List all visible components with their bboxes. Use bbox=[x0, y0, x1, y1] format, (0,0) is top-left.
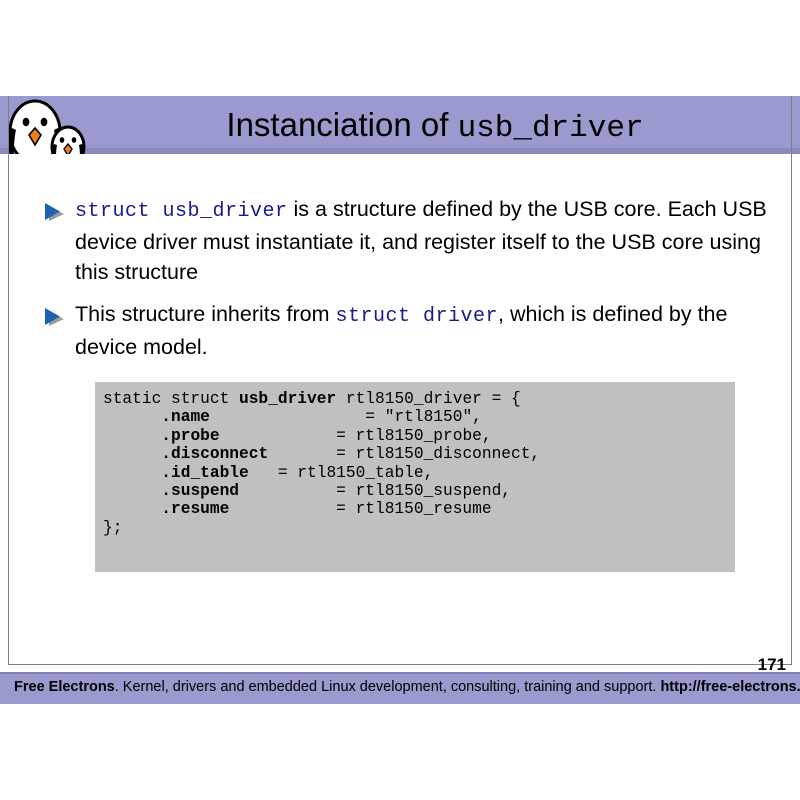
footer-brand: Free Electrons bbox=[14, 679, 115, 695]
triangle-bullet-icon bbox=[41, 306, 67, 328]
triangle-bullet-icon bbox=[41, 201, 67, 223]
bullet-1-code: struct usb_driver bbox=[75, 200, 288, 223]
code-listing: static struct usb_driver rtl8150_driver … bbox=[95, 390, 735, 537]
code-block: static struct usb_driver rtl8150_driver … bbox=[95, 382, 735, 572]
bullet-1-text: struct usb_driver is a structure defined… bbox=[9, 194, 775, 287]
page-title-prefix: Instanciation of bbox=[226, 106, 457, 143]
bullet-2-lead: This structure inherits from bbox=[75, 302, 335, 326]
slide-content: struct usb_driver is a structure defined… bbox=[9, 154, 791, 664]
footer-url[interactable]: http://free-electrons.com bbox=[660, 679, 800, 695]
page-title-code: usb_driver bbox=[458, 111, 644, 146]
page-title: Instanciation of usb_driver bbox=[90, 98, 780, 154]
footer-tagline: . Kernel, drivers and embedded Linux dev… bbox=[115, 679, 661, 695]
list-item: This structure inherits from struct driv… bbox=[9, 299, 769, 362]
footer-text: Free Electrons. Kernel, drivers and embe… bbox=[14, 677, 800, 697]
slide: Instanciation of usb_driver bbox=[0, 0, 800, 800]
bullet-2-code: struct driver bbox=[335, 305, 498, 328]
list-item: struct usb_driver is a structure defined… bbox=[9, 194, 769, 287]
bullet-2-text: This structure inherits from struct driv… bbox=[9, 299, 775, 362]
